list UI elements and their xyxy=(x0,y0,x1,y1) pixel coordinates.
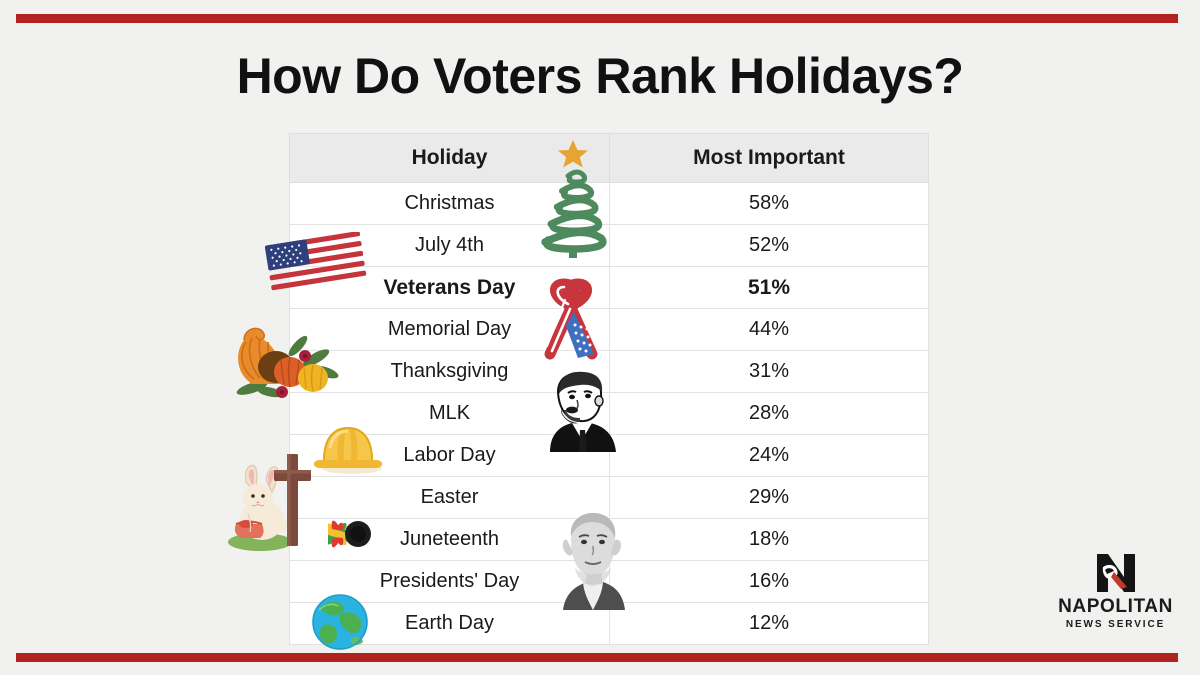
cell-holiday: Thanksgiving xyxy=(290,351,610,393)
cell-most-important: 24% xyxy=(610,435,929,477)
cell-holiday: MLK xyxy=(290,393,610,435)
cell-holiday: Memorial Day xyxy=(290,309,610,351)
cell-most-important: 29% xyxy=(610,477,929,519)
holiday-label: Veterans Day xyxy=(384,276,516,299)
cell-holiday: July 4th xyxy=(290,225,610,267)
most-important-value: 12% xyxy=(749,612,789,634)
bottom-accent-rule xyxy=(16,653,1178,662)
holiday-label: Presidents' Day xyxy=(380,570,519,592)
most-important-value: 51% xyxy=(748,276,790,299)
most-important-value: 28% xyxy=(749,402,789,424)
table-row: Earth Day 12% xyxy=(290,603,929,645)
table-row: Memorial Day 44% xyxy=(290,309,929,351)
cell-most-important: 51% xyxy=(610,267,929,309)
cell-most-important: 31% xyxy=(610,351,929,393)
cell-holiday: Juneteenth xyxy=(290,519,610,561)
holiday-label: Memorial Day xyxy=(388,318,511,340)
page-title: How Do Voters Rank Holidays? xyxy=(0,48,1200,106)
napolitan-logo: NAPOLITAN NEWS SERVICE xyxy=(1048,553,1183,630)
cell-holiday: Presidents' Day xyxy=(290,561,610,603)
table-row: Thanksgiving 31% xyxy=(290,351,929,393)
holiday-label: Easter xyxy=(421,486,479,508)
cell-most-important: 58% xyxy=(610,183,929,225)
column-header-holiday: Holiday xyxy=(290,134,610,183)
table-row: Presidents' Day 16% xyxy=(290,561,929,603)
table-row: Juneteenth 18% xyxy=(290,519,929,561)
logo-wordmark: NAPOLITAN xyxy=(1048,597,1183,617)
most-important-value: 24% xyxy=(749,444,789,466)
napolitan-eagle-n-icon xyxy=(1093,553,1139,593)
holiday-label: Christmas xyxy=(404,192,494,214)
table-row: MLK 28% xyxy=(290,393,929,435)
logo-subtitle: NEWS SERVICE xyxy=(1048,619,1183,630)
most-important-value: 16% xyxy=(749,570,789,592)
column-header-most-important: Most Important xyxy=(610,134,929,183)
holiday-ranking-table-wrapper: Holiday Most Important Christmas 58% Jul… xyxy=(289,133,928,645)
most-important-value: 29% xyxy=(749,486,789,508)
cell-most-important: 52% xyxy=(610,225,929,267)
holiday-label: Thanksgiving xyxy=(391,360,509,382)
most-important-value: 58% xyxy=(749,192,789,214)
cell-most-important: 18% xyxy=(610,519,929,561)
most-important-value: 18% xyxy=(749,528,789,550)
cell-holiday: Earth Day xyxy=(290,603,610,645)
holiday-label: Labor Day xyxy=(403,444,495,466)
top-accent-rule xyxy=(16,14,1178,23)
cell-most-important: 12% xyxy=(610,603,929,645)
most-important-value: 52% xyxy=(749,234,789,256)
holiday-ranking-table: Holiday Most Important Christmas 58% Jul… xyxy=(289,133,929,645)
table-row-highlighted: Veterans Day 51% xyxy=(290,267,929,309)
cell-holiday: Veterans Day xyxy=(290,267,610,309)
cell-holiday: Easter xyxy=(290,477,610,519)
cell-holiday: Labor Day xyxy=(290,435,610,477)
most-important-value: 44% xyxy=(749,318,789,340)
cell-holiday: Christmas xyxy=(290,183,610,225)
table-header-row: Holiday Most Important xyxy=(290,134,929,183)
table-row: Christmas 58% xyxy=(290,183,929,225)
holiday-label: July 4th xyxy=(415,234,484,256)
table-row: Labor Day 24% xyxy=(290,435,929,477)
cell-most-important: 16% xyxy=(610,561,929,603)
cell-most-important: 44% xyxy=(610,309,929,351)
holiday-label: Earth Day xyxy=(405,612,494,634)
table-row: Easter 29% xyxy=(290,477,929,519)
holiday-label: Juneteenth xyxy=(400,528,499,550)
most-important-value: 31% xyxy=(749,360,789,382)
table-row: July 4th 52% xyxy=(290,225,929,267)
holiday-label: MLK xyxy=(429,402,470,424)
cell-most-important: 28% xyxy=(610,393,929,435)
slide-canvas: How Do Voters Rank Holidays? Holiday Mos… xyxy=(0,0,1200,675)
